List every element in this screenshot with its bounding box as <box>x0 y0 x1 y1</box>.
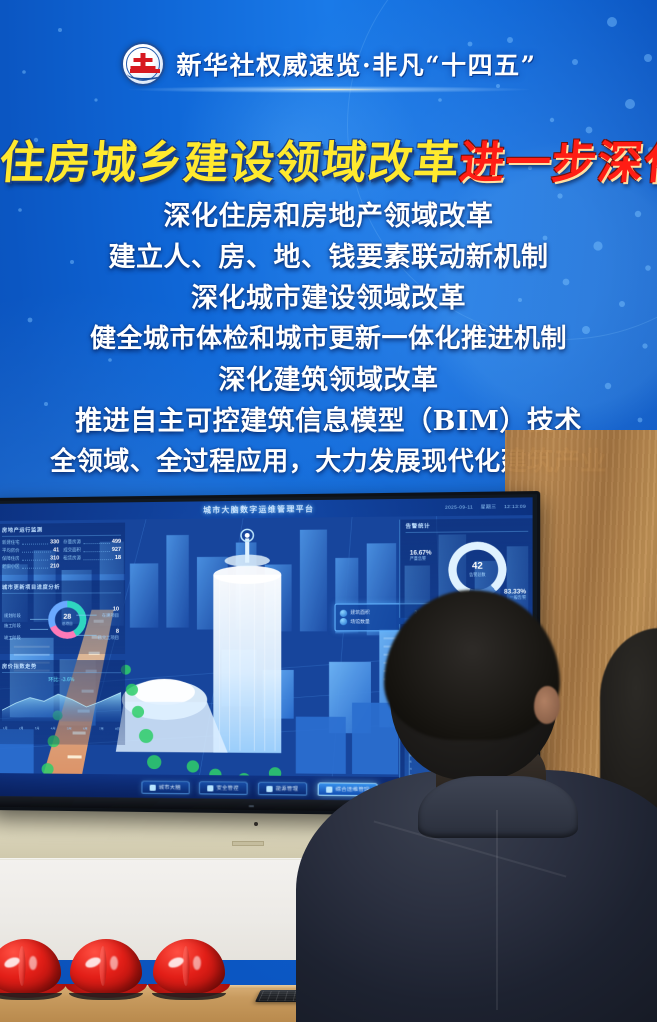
metric-label: 存量房源 <box>63 539 81 545</box>
clock-time: 12:13:09 <box>504 503 526 510</box>
helmet-ridge <box>183 946 190 986</box>
metric-dots <box>83 540 110 544</box>
poster-root: 新华社权威速览·非凡“十四五” 住房城乡建设领域改革进一步深化 深化住房和房地产… <box>0 0 657 1022</box>
metric-dots <box>22 557 49 561</box>
donut-legend-left-3: 竣工阶段 <box>4 635 21 641</box>
red-safety-helmet <box>146 938 232 1000</box>
metric-dots <box>83 556 113 560</box>
leader-line <box>76 635 96 636</box>
clock-weekday: 星期三 <box>481 504 497 510</box>
bullet-line: 深化城市建设领域改革 <box>0 278 657 319</box>
nav-tab-energy[interactable]: 能源管理 <box>258 782 307 795</box>
helmet-strap <box>0 993 62 1000</box>
metric-value: 210 <box>50 563 59 569</box>
alarm-pct-low: 16.67% 严重告警 <box>410 550 432 562</box>
bullet-line: 深化建筑领域改革 <box>0 360 657 401</box>
price-index-area-chart: 1月 2月 3月 4月 5月 6月 7月 8月 <box>2 683 121 740</box>
leader-line <box>30 629 48 630</box>
metric-dots <box>22 548 52 552</box>
metric-item: 老旧小区 210 <box>2 563 59 569</box>
metric-item: 新建住宅 330 <box>2 539 59 546</box>
metric-value: 330 <box>50 539 59 545</box>
person-ear <box>534 686 560 724</box>
alarm-total-label: 告警总数 <box>469 573 485 578</box>
helmet-strap <box>152 993 226 1000</box>
metric-item: 平均房价 41 <box>2 547 59 554</box>
wall-plate <box>232 841 264 846</box>
red-safety-helmet <box>63 938 149 1000</box>
metric-item: 成交面积 927 <box>63 547 121 554</box>
metric-item: 保障住房 310 <box>2 555 59 561</box>
urban-renewal-progress-card: 城市更新项目进度分析 28 总项目 规划阶段 施工阶段 <box>0 580 125 654</box>
dashboard-clock: 2025-09-11 星期三 12:13:09 <box>445 503 526 510</box>
metric-label: 新建住宅 <box>2 540 20 546</box>
bullet-line: 深化住房和房地产领域改革 <box>0 196 657 237</box>
page-title-yellow: 住房城乡建设领域改革 <box>0 136 462 189</box>
metric-grid: 新建住宅 330 存量房源 499 平均房价 41 <box>2 539 121 570</box>
poster-header: 新华社权威速览·非凡“十四五” <box>0 42 657 86</box>
metric-value: 927 <box>112 547 121 553</box>
card-header: 房地产运行监测 <box>2 526 121 537</box>
page-title-red: 进一步深化 <box>457 136 657 189</box>
metric-dots <box>22 565 49 569</box>
person-viewing-screen <box>318 594 657 1022</box>
metric-label: 租赁房源 <box>63 555 81 561</box>
helmet-highlight <box>29 956 37 970</box>
jacket-collar <box>418 776 578 838</box>
area-chart-svg <box>2 683 121 722</box>
helmet-highlight <box>110 956 118 970</box>
person-hair <box>384 590 560 740</box>
metric-label: 保障住房 <box>2 556 20 562</box>
card-header: 城市更新项目进度分析 <box>2 583 121 594</box>
donut-label: 总项目 <box>62 621 73 626</box>
progress-donut-chart: 28 总项目 规划阶段 施工阶段 竣工阶段 10 <box>2 596 121 649</box>
bullet-line: 建立人、房、地、钱要素联动新机制 <box>0 237 657 278</box>
helmet-ridge <box>19 946 26 986</box>
metric-label: 老旧小区 <box>2 564 20 570</box>
leader-line <box>30 619 48 620</box>
metric-item: 存量房源 499 <box>63 539 121 546</box>
helmet-highlight <box>193 956 201 970</box>
metric-dots <box>22 540 49 544</box>
card-header: 房价指数走势 <box>2 663 121 673</box>
shield-icon <box>208 784 214 790</box>
jacket-seam <box>496 810 498 1010</box>
logo-arc <box>127 68 163 80</box>
donut-center: 28 总项目 <box>48 601 86 639</box>
wall-screw <box>254 822 258 826</box>
donut-value: 28 <box>63 613 71 620</box>
metric-label: 平均房价 <box>2 548 20 554</box>
donut-legend-left-2: 施工阶段 <box>4 623 21 629</box>
price-index-card: 房价指数走势 环比: -3.6% <box>0 660 125 745</box>
xinhua-news-agency-logo <box>121 42 165 86</box>
metric-label: 成交面积 <box>63 547 81 553</box>
clock-date: 2025-09-11 <box>445 504 473 511</box>
metric-value: 310 <box>50 555 59 561</box>
metric-value: 41 <box>53 547 59 553</box>
realestate-metrics-card: 房地产运行监测 新建住宅 330 存量房源 499 <box>0 523 125 575</box>
helmet-strap <box>69 993 143 1000</box>
leader-line <box>76 615 96 616</box>
city-icon <box>149 784 155 790</box>
page-title: 住房城乡建设领域改革进一步深化 <box>0 126 657 191</box>
tv-power-led <box>248 805 253 807</box>
area-chart-x-axis: 1月 2月 3月 4月 5月 6月 7月 8月 <box>2 726 121 731</box>
metric-value: 499 <box>112 539 121 545</box>
header-divider-glow <box>129 86 529 93</box>
alarm-total: 42 <box>472 561 483 570</box>
bullet-line: 健全城市体检和城市更新一体化推进机制 <box>0 319 657 360</box>
bolt-icon <box>266 785 272 791</box>
card-header: 告警统计 <box>406 521 529 533</box>
helmet-ridge <box>100 946 107 986</box>
metric-item: 租赁房源 18 <box>63 555 121 561</box>
donut-lead-right-1: 10 在建项目 <box>102 607 119 619</box>
dashboard-title: 城市大脑数字运维管理平台 <box>203 503 314 516</box>
metric-dots <box>83 548 110 552</box>
nav-tab-safety[interactable]: 安全管控 <box>199 781 248 794</box>
red-safety-helmet <box>0 938 68 1000</box>
header-title: 新华社权威速览·非凡“十四五” <box>177 46 537 82</box>
metric-value: 18 <box>115 555 121 561</box>
donut-lead-right-2: 8 已完工项目 <box>98 629 119 641</box>
nav-tab-city-brain[interactable]: 城市大脑 <box>141 780 190 793</box>
dashboard-left-panel[interactable]: 房地产运行监测 新建住宅 330 存量房源 499 <box>0 523 125 751</box>
donut-legend-left-1: 规划阶段 <box>4 613 21 619</box>
